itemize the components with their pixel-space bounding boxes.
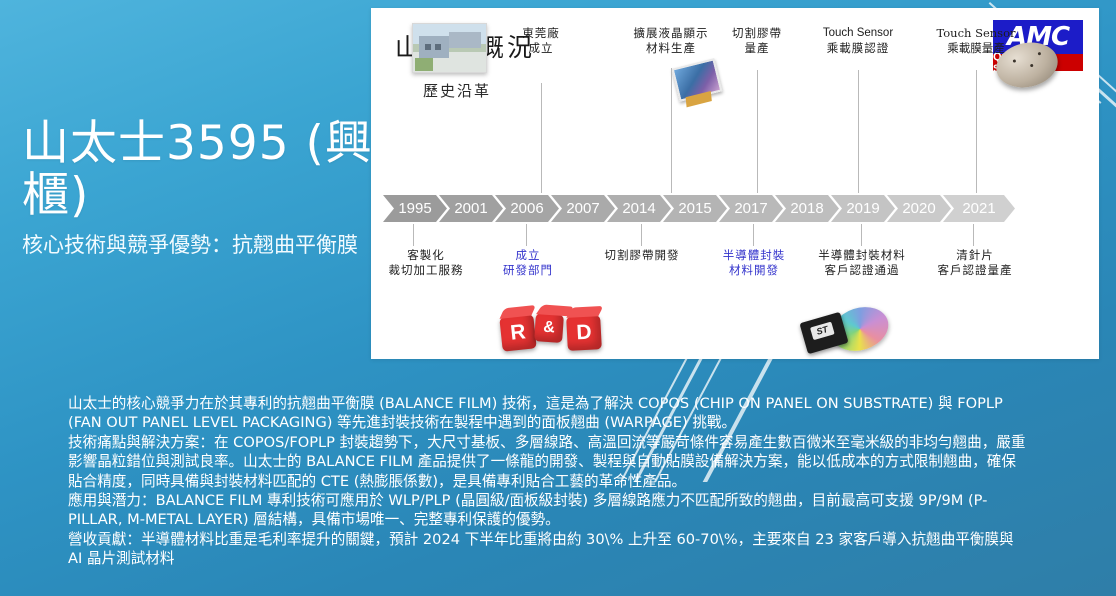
timeline-label-line: 乘載膜量產	[911, 41, 1041, 56]
timeline-tick	[526, 224, 527, 246]
body-paragraph-1: 山太士的核心競爭力在於其專利的抗翹曲平衡膜 (BALANCE FILM) 技術，…	[68, 394, 1028, 433]
timeline-label-line: 成立	[476, 248, 580, 263]
timeline-year-label: 2001	[454, 200, 487, 217]
page-subtitle: 核心技術與競爭優勢：抗翹曲平衡膜	[22, 230, 374, 260]
timeline-year-label: 2018	[790, 200, 823, 217]
timeline-label-line: 切割膠帶開發	[583, 248, 701, 263]
timeline-label-line: 東莞廠	[495, 26, 587, 41]
timeline-year-2015[interactable]: 2015	[663, 195, 727, 222]
timeline-label-2018: Touch Sensor 乘載膜認證	[793, 26, 923, 56]
timeline-label-2014: 切割膠帶開發	[583, 248, 701, 263]
body-paragraph-4: 營收貢獻：半導體材料比重是毛利率提升的關鍵，預計 2024 下半年比重將由約 3…	[68, 530, 1028, 569]
timeline-label-2006: 成立 研發部門	[476, 248, 580, 278]
timeline-tick	[973, 224, 974, 246]
timeline-tick	[413, 224, 414, 246]
die-face-label: &	[543, 319, 556, 338]
timeline-label-line: 客戶認證量產	[915, 263, 1035, 278]
timeline-year-2021[interactable]: 2021	[943, 195, 1015, 222]
rd-dice-graphic: R & D	[501, 308, 613, 354]
timeline-tick	[976, 70, 977, 193]
timeline-label-2017: 半導體封裝 材料開發	[703, 248, 805, 278]
page-title: 山太士3595 (興櫃)	[22, 118, 374, 222]
history-timeline: 東莞廠 成立 擴展液晶顯示 材料生產 切割膠帶 量產 Touch Sensor …	[371, 8, 1099, 359]
slide-card: 山太士概況 歷史沿革 AMC Quality & Service 東莞廠 成立 …	[371, 8, 1099, 359]
die-face-label: R	[509, 320, 527, 345]
timeline-tick	[858, 70, 859, 193]
die-r: R	[499, 314, 536, 351]
timeline-year-2019[interactable]: 2019	[831, 195, 895, 222]
timeline-label-line: 客戶認證通過	[799, 263, 925, 278]
timeline-label-line: 半導體封裝材料	[799, 248, 925, 263]
timeline-label-line: Touch Sensor	[793, 26, 923, 41]
timeline-tick	[671, 68, 672, 193]
timeline-label-2019: 半導體封裝材料 客戶認證通過	[799, 248, 925, 278]
st-chip-wafer-graphic: ST	[803, 308, 889, 354]
timeline-year-2018[interactable]: 2018	[775, 195, 839, 222]
timeline-year-label: 2007	[566, 200, 599, 217]
die-face-label: D	[576, 321, 592, 346]
factory-photo	[412, 23, 487, 73]
timeline-label-2020: Touch Sensor 乘載膜量產	[911, 26, 1041, 56]
timeline-year-label: 2015	[678, 200, 711, 217]
timeline-label-line: 材料開發	[703, 263, 805, 278]
lcd-panel-photo	[672, 58, 723, 102]
timeline-label-line: 乘載膜認證	[793, 41, 923, 56]
timeline-label-line: 客製化	[366, 248, 486, 263]
timeline-year-2007[interactable]: 2007	[551, 195, 615, 222]
timeline-label-line: Touch Sensor	[911, 26, 1041, 41]
timeline-year-label: 2019	[846, 200, 879, 217]
body-text: 山太士的核心競爭力在於其專利的抗翹曲平衡膜 (BALANCE FILM) 技術，…	[68, 394, 1028, 569]
timeline-year-label: 2006	[510, 200, 543, 217]
timeline-tick	[757, 70, 758, 193]
timeline-label-line: 研發部門	[476, 263, 580, 278]
timeline-year-label: 2017	[734, 200, 767, 217]
body-paragraph-3: 應用與潛力：BALANCE FILM 專利技術可應用於 WLP/PLP (晶圓級…	[68, 491, 1028, 530]
timeline-label-2001: 東莞廠 成立	[495, 26, 587, 56]
body-paragraph-2: 技術痛點與解決方案：在 COPOS/FOPLP 封裝趨勢下，大尺寸基板、多層線路…	[68, 433, 1028, 491]
die-ampersand: &	[534, 313, 564, 343]
timeline-year-2014[interactable]: 2014	[607, 195, 671, 222]
timeline-year-2017[interactable]: 2017	[719, 195, 783, 222]
timeline-year-label: 1995	[398, 200, 431, 217]
timeline-year-2020[interactable]: 2020	[887, 195, 951, 222]
timeline-label-2021: 清針片 客戶認證量產	[915, 248, 1035, 278]
timeline-year-2001[interactable]: 2001	[439, 195, 503, 222]
timeline-label-line: 清針片	[915, 248, 1035, 263]
timeline-year-2006[interactable]: 2006	[495, 195, 559, 222]
st-chip-label: ST	[810, 322, 835, 341]
timeline-year-1995[interactable]: 1995	[383, 195, 447, 222]
left-title-panel: 山太士3595 (興櫃) 核心技術與競爭優勢：抗翹曲平衡膜	[22, 118, 374, 260]
timeline-label-line: 半導體封裝	[703, 248, 805, 263]
timeline-label-line: 裁切加工服務	[366, 263, 486, 278]
timeline-tick	[861, 224, 862, 246]
die-d: D	[566, 315, 602, 351]
timeline-label-line: 成立	[495, 41, 587, 56]
timeline-tick	[641, 224, 642, 246]
timeline-year-label: 2021	[962, 200, 995, 217]
timeline-tick	[753, 224, 754, 246]
timeline-tick	[541, 83, 542, 193]
timeline-year-label: 2020	[902, 200, 935, 217]
timeline-year-label: 2014	[622, 200, 655, 217]
timeline-label-1995: 客製化 裁切加工服務	[366, 248, 486, 278]
